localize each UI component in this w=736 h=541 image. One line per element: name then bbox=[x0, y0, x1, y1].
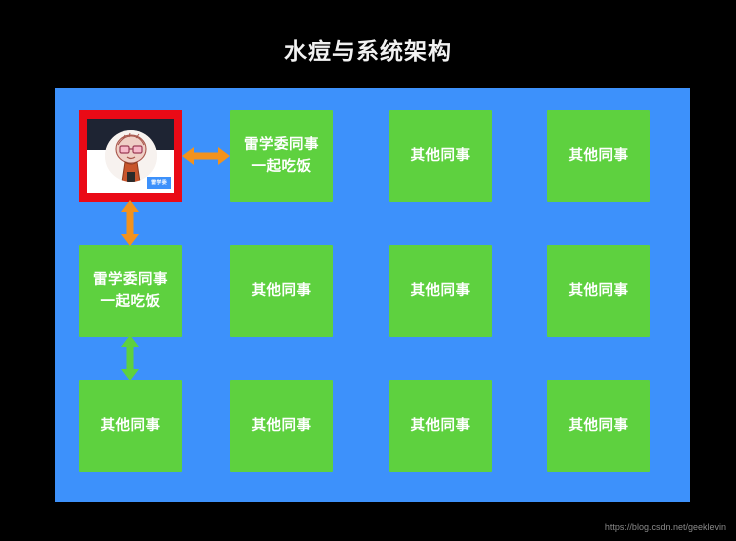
grid-cell-label: 其他同事 bbox=[569, 415, 629, 437]
grid-cell-r3c2[interactable]: 其他同事 bbox=[230, 380, 333, 472]
grid-cell-r1c4[interactable]: 其他同事 bbox=[547, 110, 650, 202]
avatar-badge: 雷学委 bbox=[147, 177, 171, 189]
cell-line-1: 雷学委同事 bbox=[93, 269, 168, 291]
cell-line-2: 一起吃饭 bbox=[244, 156, 319, 178]
grid-cell-r2c3[interactable]: 其他同事 bbox=[389, 245, 492, 337]
grid-cell-r2c4[interactable]: 其他同事 bbox=[547, 245, 650, 337]
cell-line-2: 一起吃饭 bbox=[93, 291, 168, 313]
diagram-panel: 雷学委 雷学委同事 一起吃饭 其他同事 其他同事 雷学委同事 一起吃饭 其他同事 bbox=[55, 88, 690, 502]
grid-cell-label: 其他同事 bbox=[252, 280, 312, 302]
grid-cell-label: 其他同事 bbox=[569, 145, 629, 167]
grid-cell-r1c2[interactable]: 雷学委同事 一起吃饭 bbox=[230, 110, 333, 202]
avatar-illustration-icon bbox=[105, 130, 157, 182]
cell-line-1: 雷学委同事 bbox=[244, 134, 319, 156]
colleague-grid: 雷学委 雷学委同事 一起吃饭 其他同事 其他同事 雷学委同事 一起吃饭 其他同事 bbox=[55, 88, 690, 502]
grid-cell-avatar-highlight[interactable]: 雷学委 bbox=[79, 110, 182, 202]
grid-cell-r2c1[interactable]: 雷学委同事 一起吃饭 bbox=[79, 245, 182, 337]
grid-cell-label: 其他同事 bbox=[411, 145, 471, 167]
arrow-horizontal-r1c1-r1c2-icon bbox=[182, 145, 230, 172]
page-title: 水痘与系统架构 bbox=[0, 36, 736, 66]
grid-cell-label: 雷学委同事 一起吃饭 bbox=[93, 269, 168, 313]
watermark: https://blog.csdn.net/geeklevin bbox=[605, 521, 726, 533]
grid-cell-r3c3[interactable]: 其他同事 bbox=[389, 380, 492, 472]
grid-cell-label: 雷学委同事 一起吃饭 bbox=[244, 134, 319, 178]
grid-cell-label: 其他同事 bbox=[411, 415, 471, 437]
grid-cell-label: 其他同事 bbox=[569, 280, 629, 302]
grid-cell-label: 其他同事 bbox=[411, 280, 471, 302]
grid-cell-r3c4[interactable]: 其他同事 bbox=[547, 380, 650, 472]
grid-cell-label: 其他同事 bbox=[101, 415, 161, 437]
avatar-card: 雷学委 bbox=[87, 119, 174, 193]
avatar-photo bbox=[105, 130, 157, 182]
grid-cell-r2c2[interactable]: 其他同事 bbox=[230, 245, 333, 337]
arrow-vertical-r2c1-r3c1-icon bbox=[119, 335, 141, 386]
grid-cell-label: 其他同事 bbox=[252, 415, 312, 437]
arrow-vertical-r1c1-r2c1-icon bbox=[119, 200, 141, 251]
grid-cell-r3c1[interactable]: 其他同事 bbox=[79, 380, 182, 472]
grid-cell-r1c3[interactable]: 其他同事 bbox=[389, 110, 492, 202]
